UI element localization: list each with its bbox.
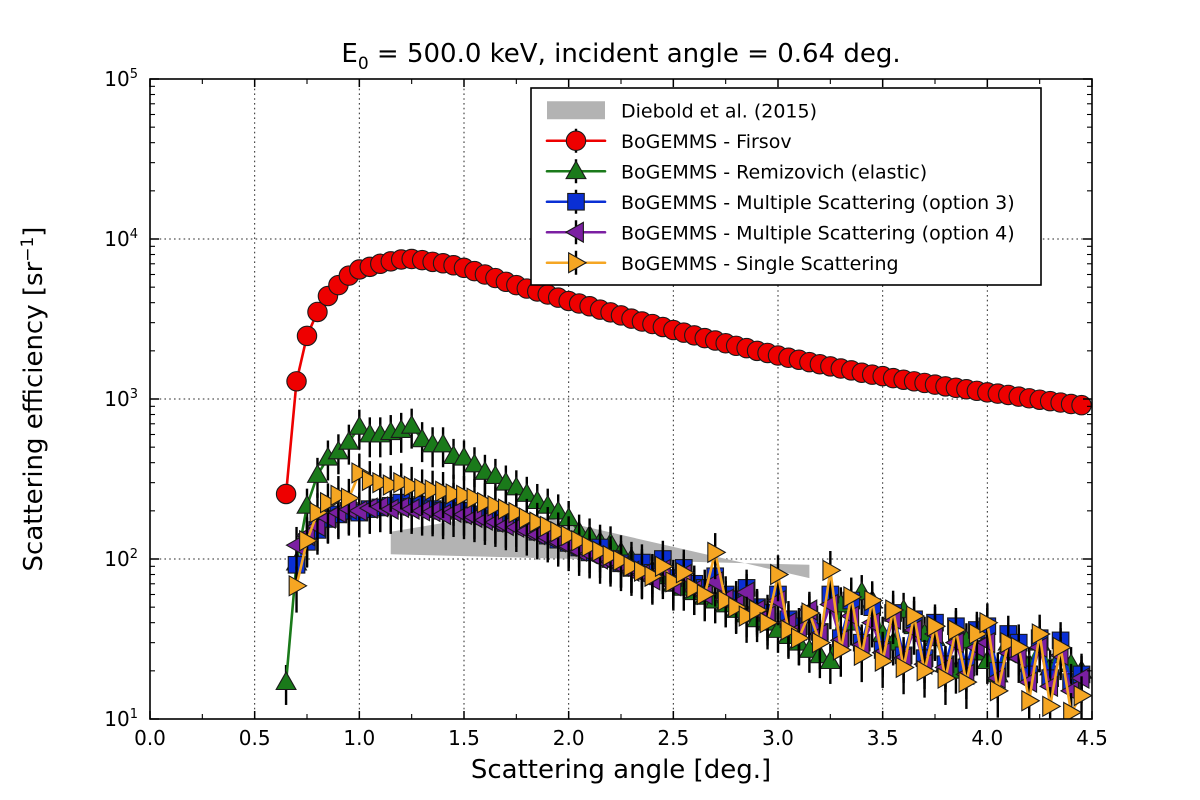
x-tick-label: 2.0 bbox=[553, 726, 585, 750]
marker-square bbox=[568, 193, 585, 210]
legend-label: BoGEMMS - Multiple Scattering (option 3) bbox=[621, 192, 1015, 214]
legend-label: Diebold et al. (2015) bbox=[621, 100, 817, 122]
marker-circle bbox=[276, 484, 295, 503]
x-tick-label: 0.0 bbox=[134, 726, 166, 750]
x-tick-label: 1.5 bbox=[448, 726, 480, 750]
marker-circle bbox=[566, 131, 585, 150]
marker-circle bbox=[287, 372, 306, 391]
x-tick-label: 4.5 bbox=[1076, 726, 1108, 750]
legend-label: BoGEMMS - Single Scattering bbox=[621, 253, 899, 275]
x-tick-label: 3.0 bbox=[762, 726, 794, 750]
legend-label: BoGEMMS - Remizovich (elastic) bbox=[621, 161, 927, 183]
x-axis-title: Scattering angle [deg.] bbox=[471, 755, 771, 785]
legend-label: BoGEMMS - Firsov bbox=[621, 131, 792, 153]
x-tick-label: 0.5 bbox=[239, 726, 271, 750]
legend-item-0[interactable]: Diebold et al. (2015) bbox=[547, 100, 817, 122]
y-axis-title: Scattering efficiency [sr−1] bbox=[18, 227, 49, 572]
x-tick-label: 2.5 bbox=[657, 726, 689, 750]
chart-legend[interactable]: Diebold et al. (2015)BoGEMMS - FirsovBoG… bbox=[531, 88, 1041, 285]
marker-circle bbox=[297, 326, 316, 345]
x-tick-label: 4.0 bbox=[971, 726, 1003, 750]
x-tick-label: 3.5 bbox=[867, 726, 899, 750]
legend-label: BoGEMMS - Multiple Scattering (option 4) bbox=[621, 222, 1015, 244]
figure-canvas: 0.00.51.01.52.02.53.03.54.04.51011021031… bbox=[0, 0, 1200, 800]
chart-title: E0 = 500.0 keV, incident angle = 0.64 de… bbox=[341, 39, 900, 74]
scattering-efficiency-chart: 0.00.51.01.52.02.53.03.54.04.51011021031… bbox=[0, 0, 1200, 800]
x-tick-label: 1.0 bbox=[343, 726, 375, 750]
legend-swatch-patch bbox=[547, 101, 605, 119]
